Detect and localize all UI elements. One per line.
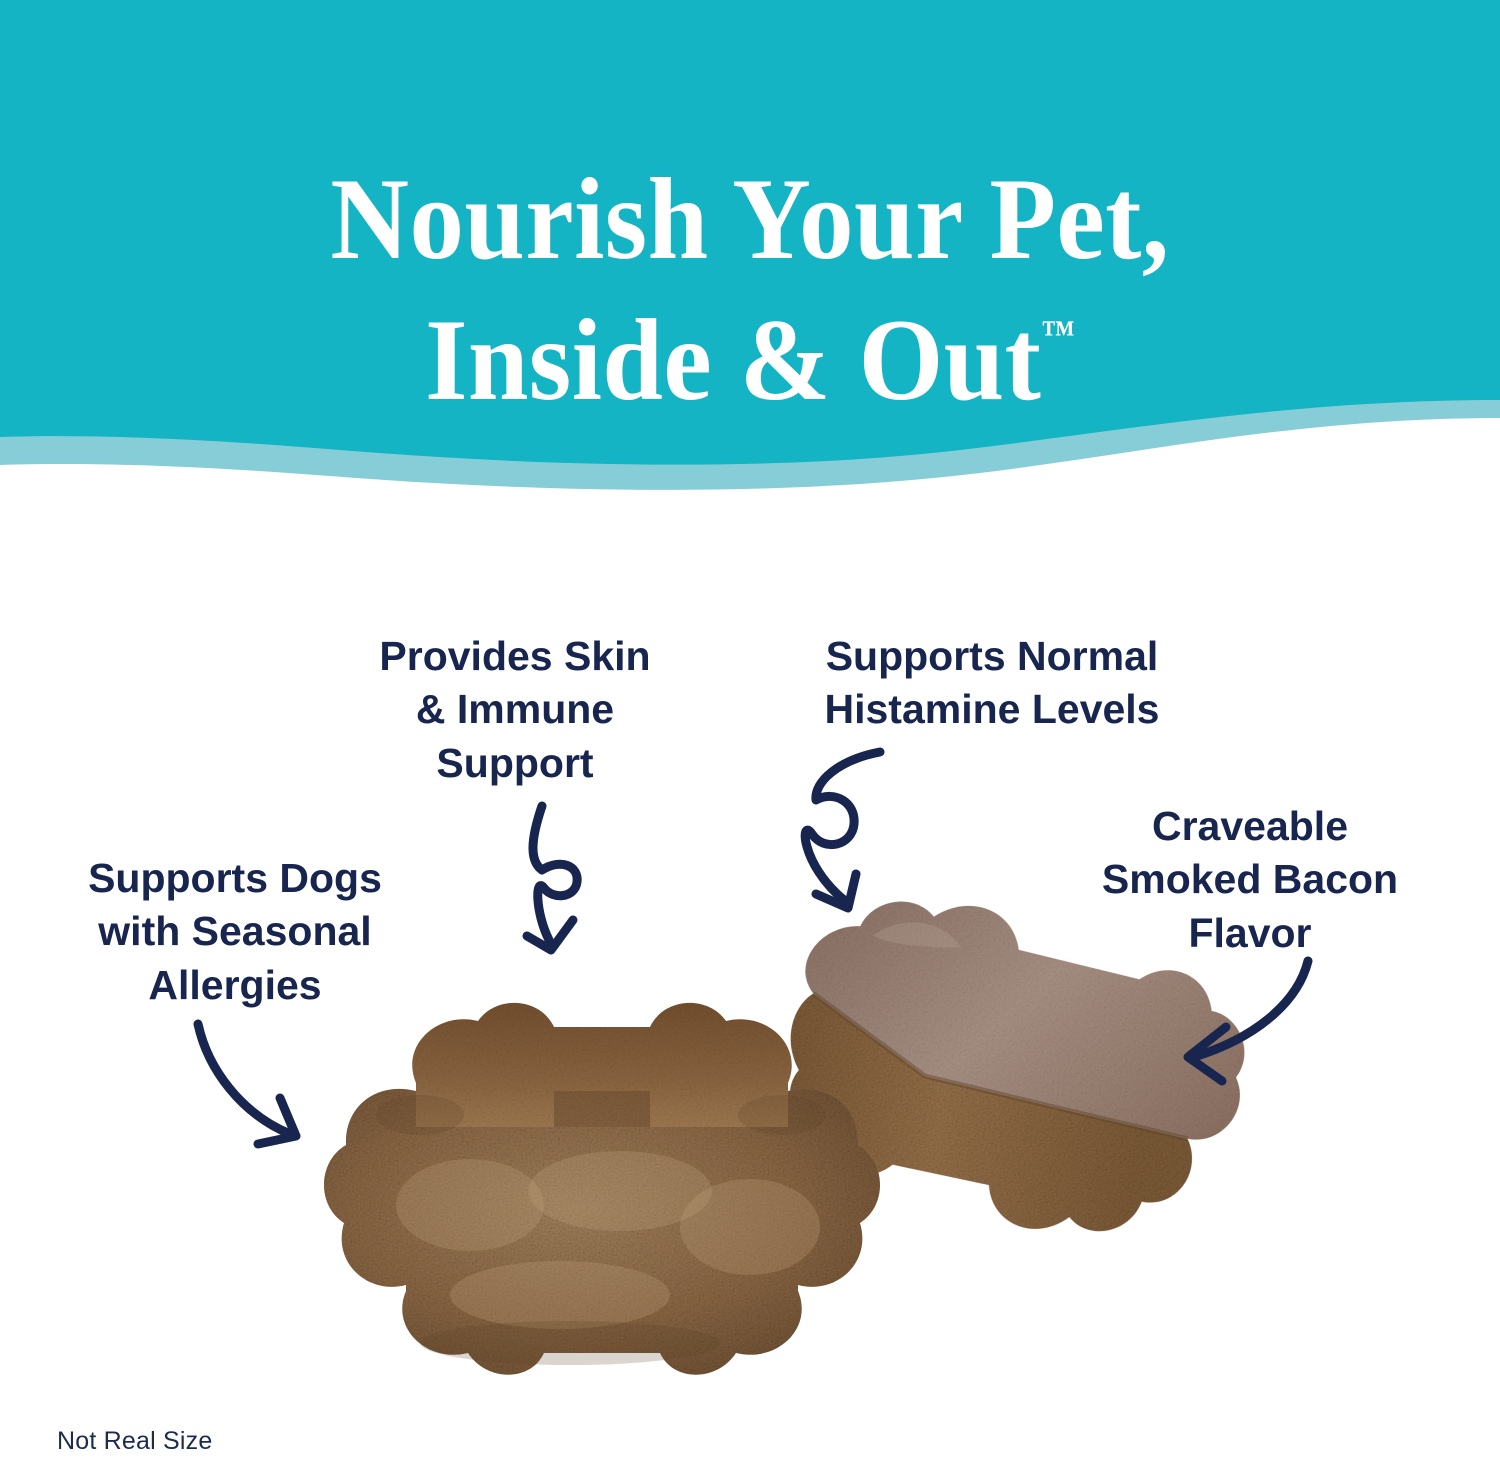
curly-loop-down-arrow-skin-immune	[487, 800, 637, 975]
curved-down-left-arrow-bacon	[1130, 955, 1330, 1105]
arrow-shaft	[805, 752, 880, 900]
arrow-shaft	[198, 1024, 290, 1134]
header-banner: Nourish Your Pet, Inside & Out™	[0, 0, 1500, 500]
curly-loop-down-right-arrow-histamine	[772, 748, 932, 938]
treat-left-notch-shade	[554, 1091, 650, 1127]
trademark-symbol: ™	[1041, 313, 1074, 353]
callout-label-skin-immune: Provides Skin & Immune Support	[300, 630, 730, 790]
callout-label-histamine: Supports Normal Histamine Levels	[752, 630, 1232, 737]
page-title: Nourish Your Pet, Inside & Out™	[0, 150, 1500, 431]
curved-down-right-arrow-seasonal	[180, 1010, 340, 1160]
title-line-2-wrap: Inside & Out™	[53, 291, 1448, 431]
callout-label-seasonal-allergies: Supports Dogs with Seasonal Allergies	[20, 852, 450, 1012]
callout-label-bacon-flavor: Craveable Smoked Bacon Flavor	[1020, 800, 1480, 960]
footnote-not-real-size: Not Real Size	[57, 1427, 212, 1456]
title-line-1: Nourish Your Pet,	[53, 150, 1448, 290]
title-line-2: Inside & Out	[425, 296, 1041, 425]
product-infographic: Nourish Your Pet, Inside & Out™	[0, 0, 1500, 1469]
